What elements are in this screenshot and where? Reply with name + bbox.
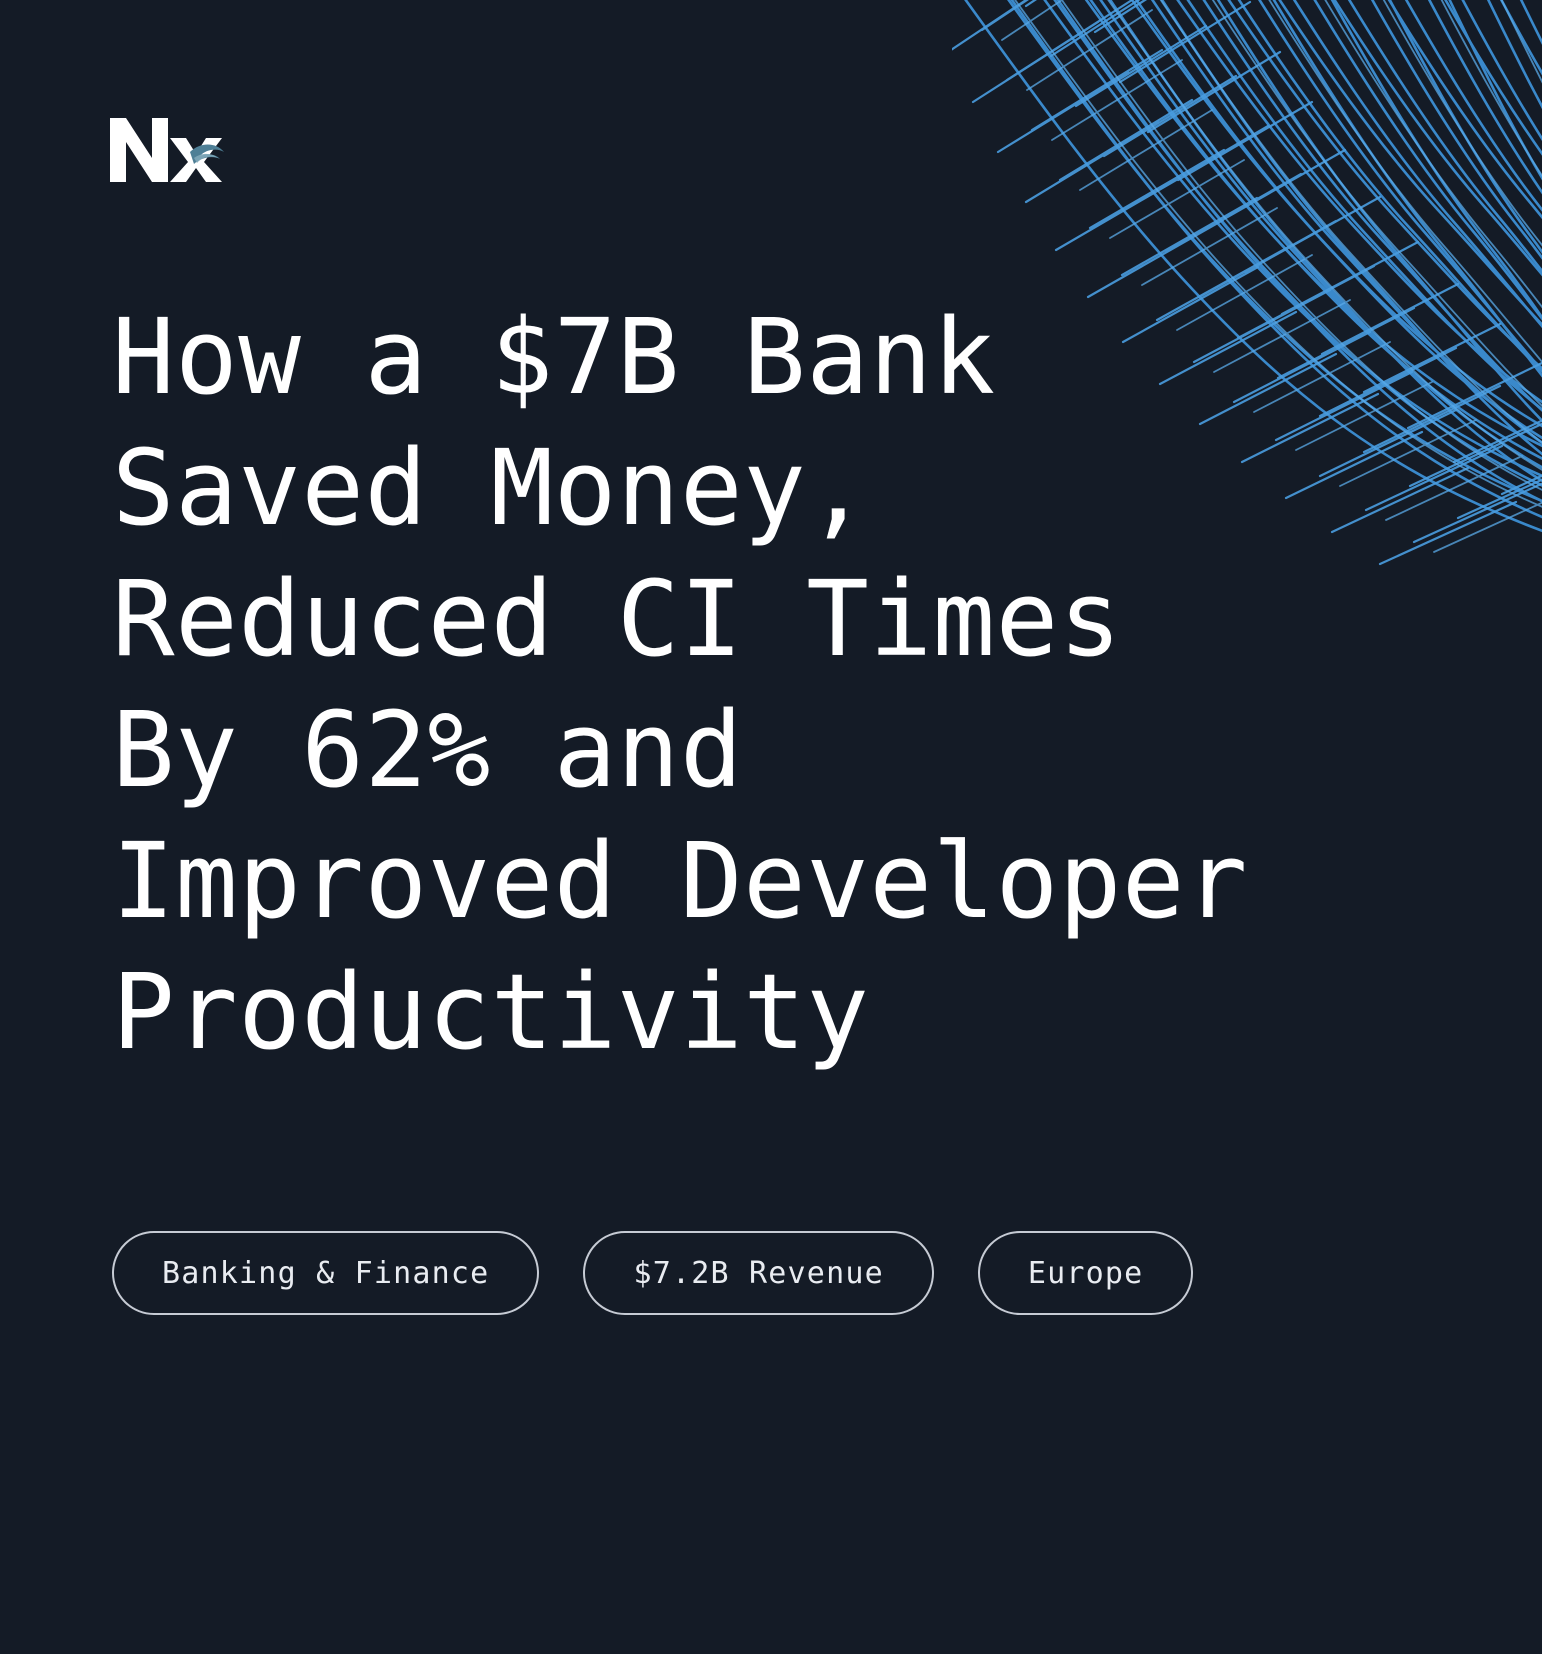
pill-industry[interactable]: Banking & Finance xyxy=(112,1231,539,1315)
pill-region[interactable]: Europe xyxy=(978,1231,1194,1315)
headline-line-6: Productivity xyxy=(112,947,1432,1078)
nx-logo[interactable] xyxy=(108,112,234,188)
tag-pill-row: Banking & Finance $7.2B Revenue Europe xyxy=(112,1231,1193,1315)
case-study-card: How a $7B Bank Saved Money, Reduced CI T… xyxy=(0,0,1542,1654)
pill-region-label: Europe xyxy=(1028,1256,1144,1291)
headline-line-1: How a $7B Bank xyxy=(112,292,1432,423)
pill-industry-label: Banking & Finance xyxy=(162,1256,489,1291)
headline-line-5: Improved Developer xyxy=(112,816,1432,947)
headline-line-2: Saved Money, xyxy=(112,423,1432,554)
nx-letter-n xyxy=(110,118,168,182)
headline-line-4: By 62% and xyxy=(112,685,1432,816)
pill-revenue-label: $7.2B Revenue xyxy=(633,1256,883,1291)
page-title: How a $7B Bank Saved Money, Reduced CI T… xyxy=(112,292,1432,1078)
pill-revenue[interactable]: $7.2B Revenue xyxy=(583,1231,933,1315)
headline-line-3: Reduced CI Times xyxy=(112,554,1432,685)
